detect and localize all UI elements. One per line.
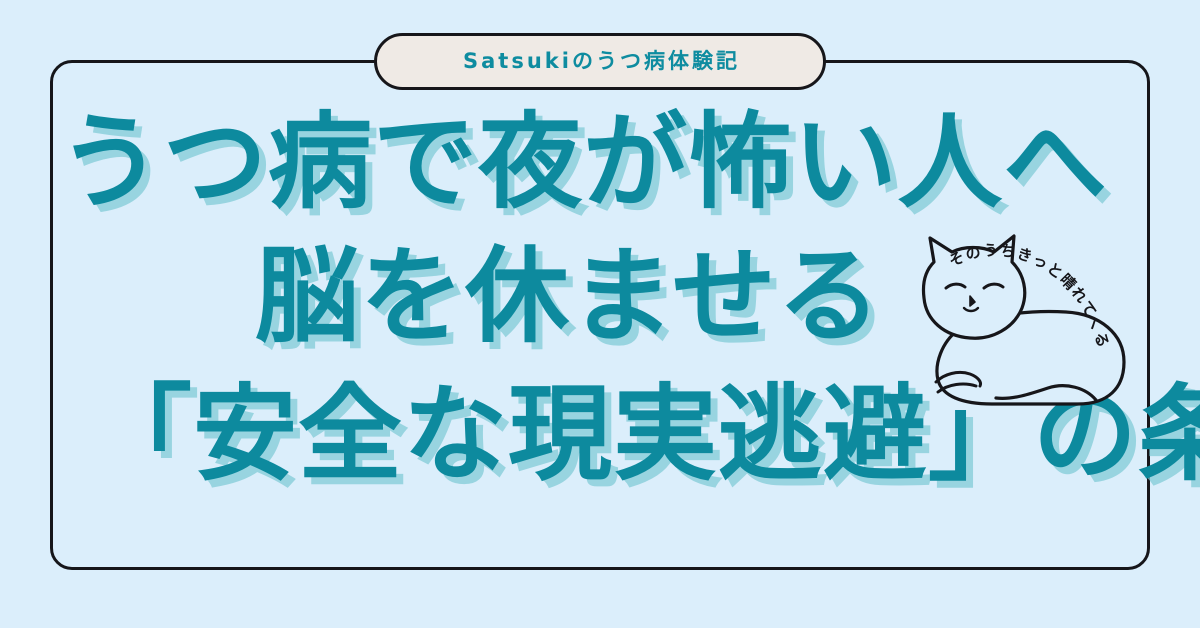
cat-icon: そのうちきっと晴れてくる [900,222,1150,422]
title-badge: Satsukiのうつ病体験記 [374,33,826,90]
headline-line-1: うつ病で夜が怖い人へ [58,110,1108,214]
headline-line-2: 脳を休ませる [255,244,882,348]
poster-canvas: Satsukiのうつ病体験記 うつ病で夜が怖い人へ 脳を休ませる 「安全な現実逃… [0,0,1200,628]
cat-illustration: そのうちきっと晴れてくる [900,222,1150,422]
title-badge-label: Satsukiのうつ病体験記 [460,51,740,72]
